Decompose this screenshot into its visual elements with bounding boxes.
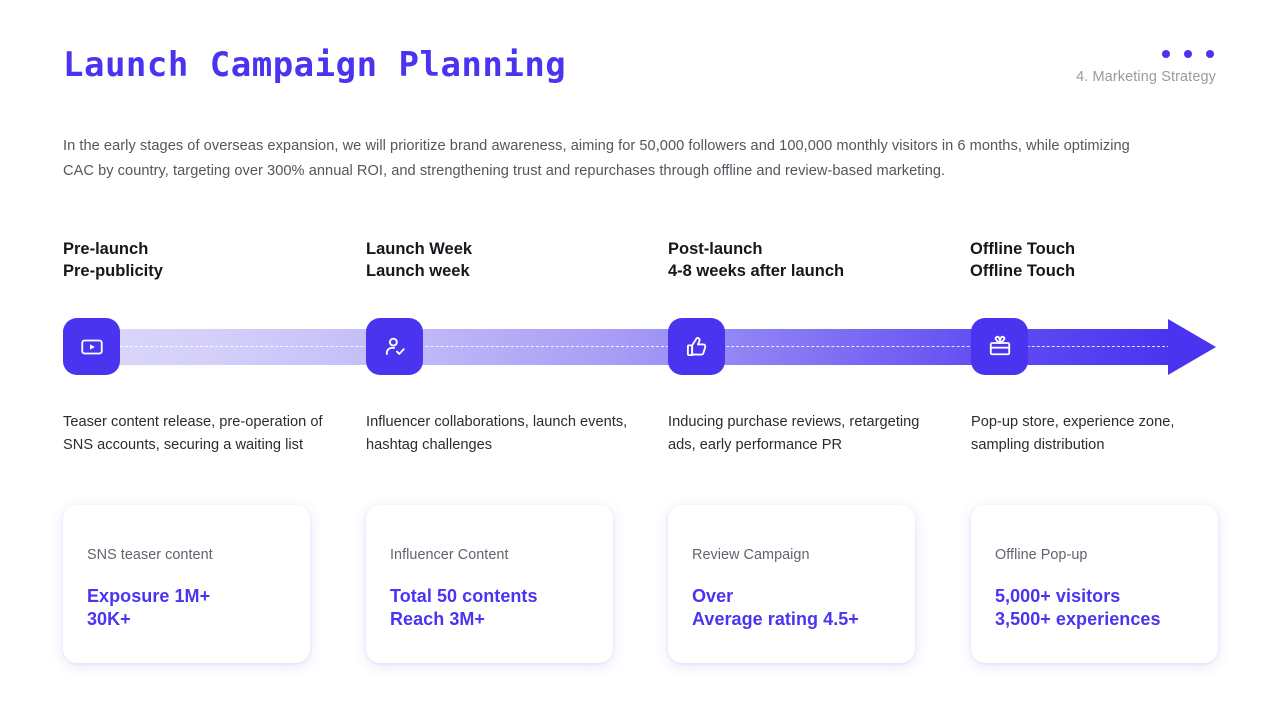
timeline-node-1[interactable] — [63, 318, 120, 375]
kpi-value-line-1: Exposure 1M+ — [87, 585, 310, 608]
dot-icon — [1206, 50, 1214, 58]
phase-subtitle: Pre-publicity — [63, 260, 163, 282]
kpi-card-3[interactable]: Review Campaign Over Average rating 4.5+ — [668, 505, 915, 663]
kpi-value-line-2: Reach 3M+ — [390, 608, 613, 631]
kpi-card-2[interactable]: Influencer Content Total 50 contents Rea… — [366, 505, 613, 663]
kpi-value-line-1: Over — [692, 585, 915, 608]
slide-root: Launch Campaign Planning 4. Marketing St… — [0, 0, 1280, 720]
phase-description-3: Inducing purchase reviews, retargeting a… — [668, 411, 930, 457]
kpi-card-4[interactable]: Offline Pop-up 5,000+ visitors 3,500+ ex… — [971, 505, 1218, 663]
phase-title: Pre-launch — [63, 238, 163, 260]
decorative-dots — [1076, 50, 1216, 58]
kpi-label: SNS teaser content — [87, 547, 310, 563]
phase-title: Post-launch — [668, 238, 844, 260]
kpi-label: Influencer Content — [390, 547, 613, 563]
phase-subtitle: 4-8 weeks after launch — [668, 260, 844, 282]
kpi-label: Review Campaign — [692, 547, 915, 563]
video-play-icon — [79, 334, 105, 360]
phase-description-4: Pop-up store, experience zone, sampling … — [971, 411, 1223, 457]
kpi-value-line-2: 30K+ — [87, 608, 310, 631]
phase-description-1: Teaser content release, pre-operation of… — [63, 411, 325, 457]
timeline-node-2[interactable] — [366, 318, 423, 375]
timeline-node-4[interactable] — [971, 318, 1028, 375]
header-right-group: 4. Marketing Strategy — [1076, 50, 1216, 85]
phase-heading-2: Launch Week Launch week — [366, 238, 472, 282]
kpi-value-line-1: 5,000+ visitors — [995, 585, 1218, 608]
phase-heading-4: Offline Touch Offline Touch — [970, 238, 1075, 282]
kpi-card-1[interactable]: SNS teaser content Exposure 1M+ 30K+ — [63, 505, 310, 663]
phase-heading-3: Post-launch 4-8 weeks after launch — [668, 238, 844, 282]
page-title: Launch Campaign Planning — [63, 45, 566, 85]
intro-paragraph: In the early stages of overseas expansio… — [63, 134, 1163, 184]
thumbs-up-icon — [684, 334, 710, 360]
dot-icon — [1162, 50, 1170, 58]
timeline-arrow-head-icon — [1168, 319, 1216, 375]
user-check-icon — [382, 334, 408, 360]
phase-title: Launch Week — [366, 238, 472, 260]
phase-subtitle: Launch week — [366, 260, 472, 282]
gift-box-icon — [987, 334, 1013, 360]
phase-subtitle: Offline Touch — [970, 260, 1075, 282]
timeline-node-3[interactable] — [668, 318, 725, 375]
phase-description-2: Influencer collaborations, launch events… — [366, 411, 628, 457]
dot-icon — [1184, 50, 1192, 58]
section-label: 4. Marketing Strategy — [1076, 69, 1216, 85]
phase-headings-group: Pre-launch Pre-publicity Launch Week Lau… — [63, 238, 1218, 296]
kpi-label: Offline Pop-up — [995, 547, 1218, 563]
kpi-value-line-2: Average rating 4.5+ — [692, 608, 915, 631]
kpi-value-line-1: Total 50 contents — [390, 585, 613, 608]
phase-heading-1: Pre-launch Pre-publicity — [63, 238, 163, 282]
phase-title: Offline Touch — [970, 238, 1075, 260]
kpi-value-line-2: 3,500+ experiences — [995, 608, 1218, 631]
